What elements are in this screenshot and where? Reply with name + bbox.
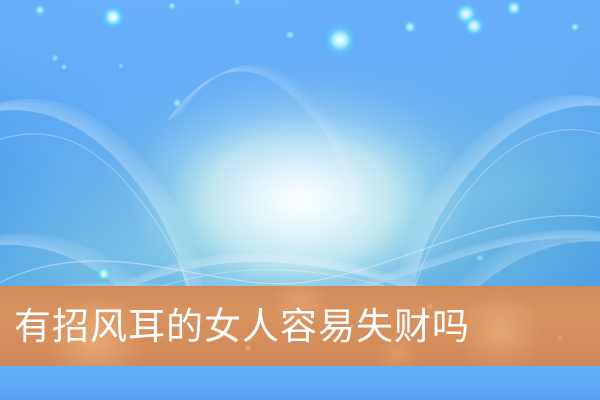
sparkle [233,0,241,6]
sparkle [285,30,295,40]
sparkle [60,63,68,71]
sparkle [506,0,522,16]
sparkle [455,3,477,25]
title-text: 有招风耳的女人容易失财吗 [14,286,470,366]
sparkle [476,254,485,263]
sparkle [35,5,46,16]
sparkle [325,25,355,55]
sparkle [168,2,177,11]
sparkle [570,22,580,32]
banner-graphic: 有招风耳的女人容易失财吗 [0,0,600,400]
sparkle [404,21,417,34]
sparkle [118,63,125,70]
sparkle [464,16,484,36]
sparkle [51,54,60,63]
sparkle [102,6,124,28]
sparkle [172,98,182,108]
title-band: 有招风耳的女人容易失财吗 [0,286,600,366]
bottom-blue-strip [0,366,600,400]
sparkle [97,267,111,281]
